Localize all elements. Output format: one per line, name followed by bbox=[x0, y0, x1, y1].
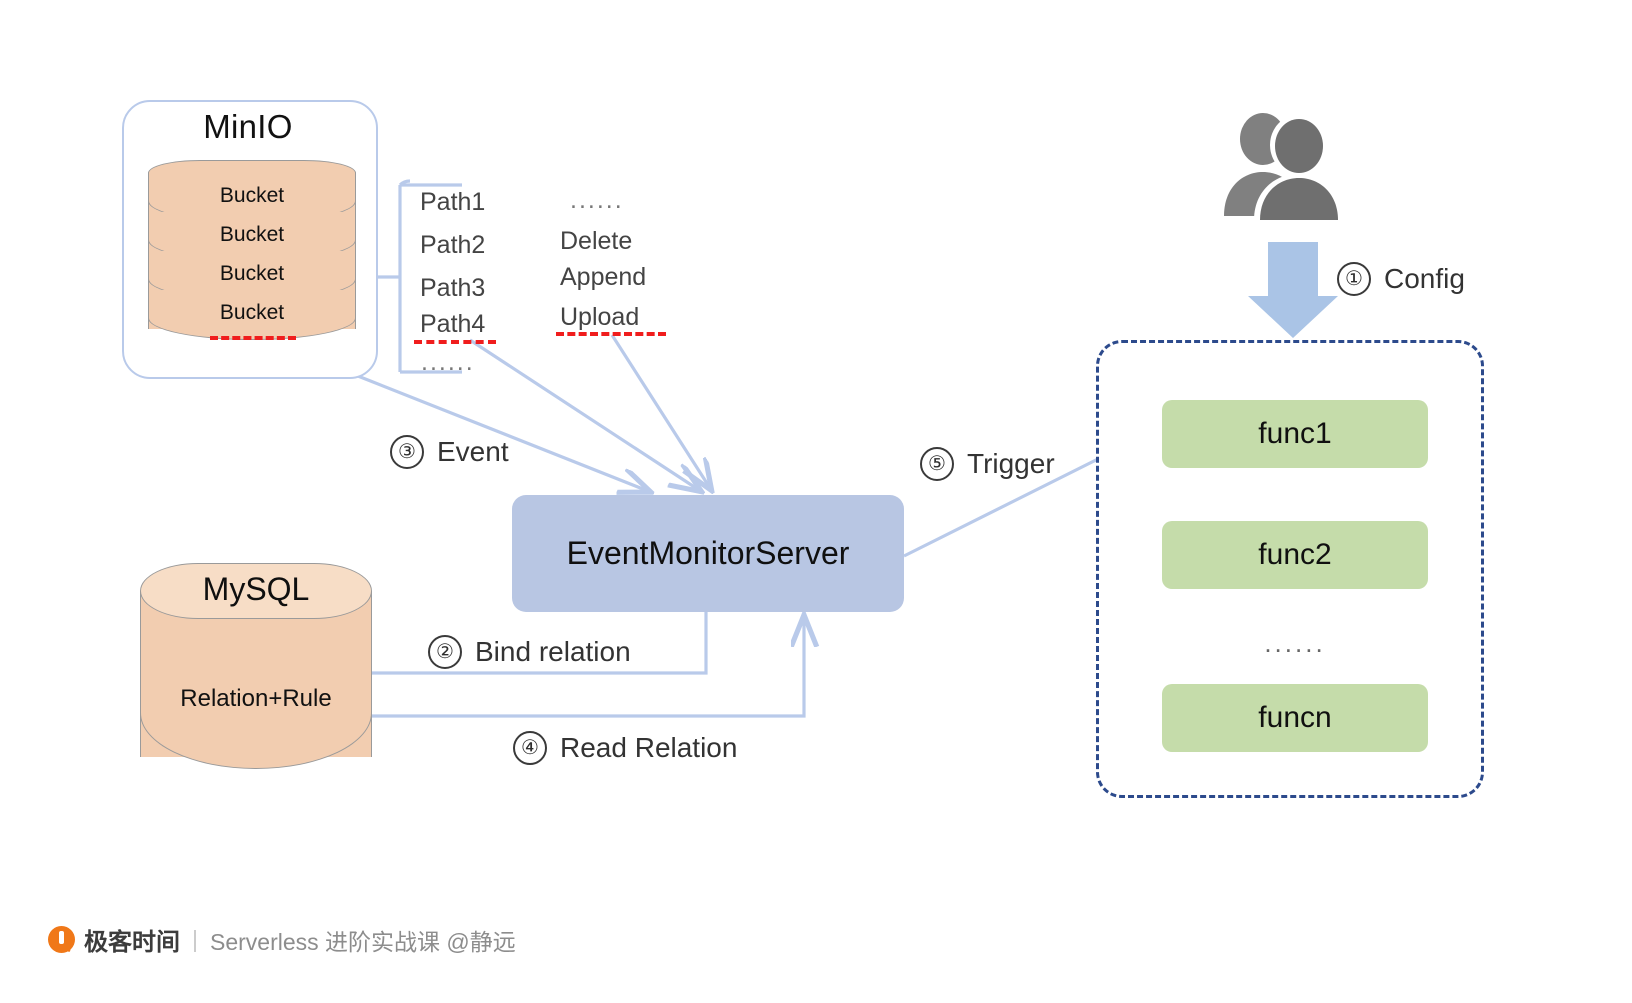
operation-item-delete: Delete bbox=[560, 227, 632, 256]
function-card-funcn[interactable]: funcn bbox=[1162, 684, 1428, 752]
operation-ellipsis: ...... bbox=[570, 186, 624, 215]
geekbang-logo-icon bbox=[48, 926, 75, 953]
bucket-label: Bucket bbox=[148, 301, 356, 325]
step-number: ③ bbox=[390, 435, 424, 469]
step-text: Read Relation bbox=[560, 732, 737, 764]
path-ellipsis: ...... bbox=[421, 348, 475, 377]
footer-brand: 极客时间 bbox=[84, 922, 180, 957]
step-number: ④ bbox=[513, 731, 547, 765]
diagram-canvas: MinIO Bucket Bucket Bucket Bucket Path1 … bbox=[0, 0, 1632, 1003]
operation-item-append: Append bbox=[560, 263, 646, 292]
bucket-label: Bucket bbox=[148, 223, 356, 247]
operation-item-upload: Upload bbox=[560, 303, 639, 332]
bucket-stack: Bucket Bucket Bucket Bucket bbox=[148, 160, 356, 328]
step-text: Trigger bbox=[967, 448, 1055, 480]
path-item-1: Path1 bbox=[420, 188, 485, 217]
mysql-node: MySQL Relation+Rule bbox=[140, 563, 372, 785]
minio-title: MinIO bbox=[122, 108, 374, 146]
mysql-content-label: Relation+Rule bbox=[140, 685, 372, 713]
function-label: funcn bbox=[1258, 701, 1331, 735]
step-label-trigger: ⑤ Trigger bbox=[920, 447, 1055, 481]
step-text: Bind relation bbox=[475, 636, 631, 668]
path-item-2: Path2 bbox=[420, 231, 485, 260]
cylinder-bottom bbox=[140, 713, 372, 769]
step-label-bind-relation: ② Bind relation bbox=[428, 635, 631, 669]
mysql-title: MySQL bbox=[140, 571, 372, 608]
footer-course: Serverless 进阶实战课 @静远 bbox=[210, 923, 516, 957]
step-label-read-relation: ④ Read Relation bbox=[513, 731, 737, 765]
step-label-config: ① Config bbox=[1337, 262, 1465, 296]
step-number: ① bbox=[1337, 262, 1371, 296]
step-number: ⑤ bbox=[920, 447, 954, 481]
step-text: Config bbox=[1384, 263, 1465, 295]
config-block-arrow bbox=[1248, 242, 1338, 338]
step-number: ② bbox=[428, 635, 462, 669]
function-card-func2[interactable]: func2 bbox=[1162, 521, 1428, 589]
function-label: func2 bbox=[1258, 538, 1331, 572]
step-text: Event bbox=[437, 436, 509, 468]
step-label-event: ③ Event bbox=[390, 435, 509, 469]
footer-divider: | bbox=[192, 926, 198, 953]
footer-watermark: 极客时间 | Serverless 进阶实战课 @静远 bbox=[48, 922, 516, 957]
operation-highlight-underline bbox=[556, 332, 666, 336]
path-highlight-underline bbox=[414, 340, 496, 344]
function-label: func1 bbox=[1258, 417, 1331, 451]
function-ellipsis: ...... bbox=[1162, 628, 1428, 659]
event-monitor-server-node[interactable]: EventMonitorServer bbox=[512, 495, 904, 612]
path-item-3: Path3 bbox=[420, 274, 485, 303]
users-icon bbox=[1216, 112, 1356, 220]
bucket-label: Bucket bbox=[148, 184, 356, 208]
path-item-4: Path4 bbox=[420, 310, 485, 339]
function-card-func1[interactable]: func1 bbox=[1162, 400, 1428, 468]
bucket-label: Bucket bbox=[148, 262, 356, 286]
bucket-highlight-underline bbox=[210, 336, 296, 340]
event-monitor-server-label: EventMonitorServer bbox=[567, 535, 850, 572]
